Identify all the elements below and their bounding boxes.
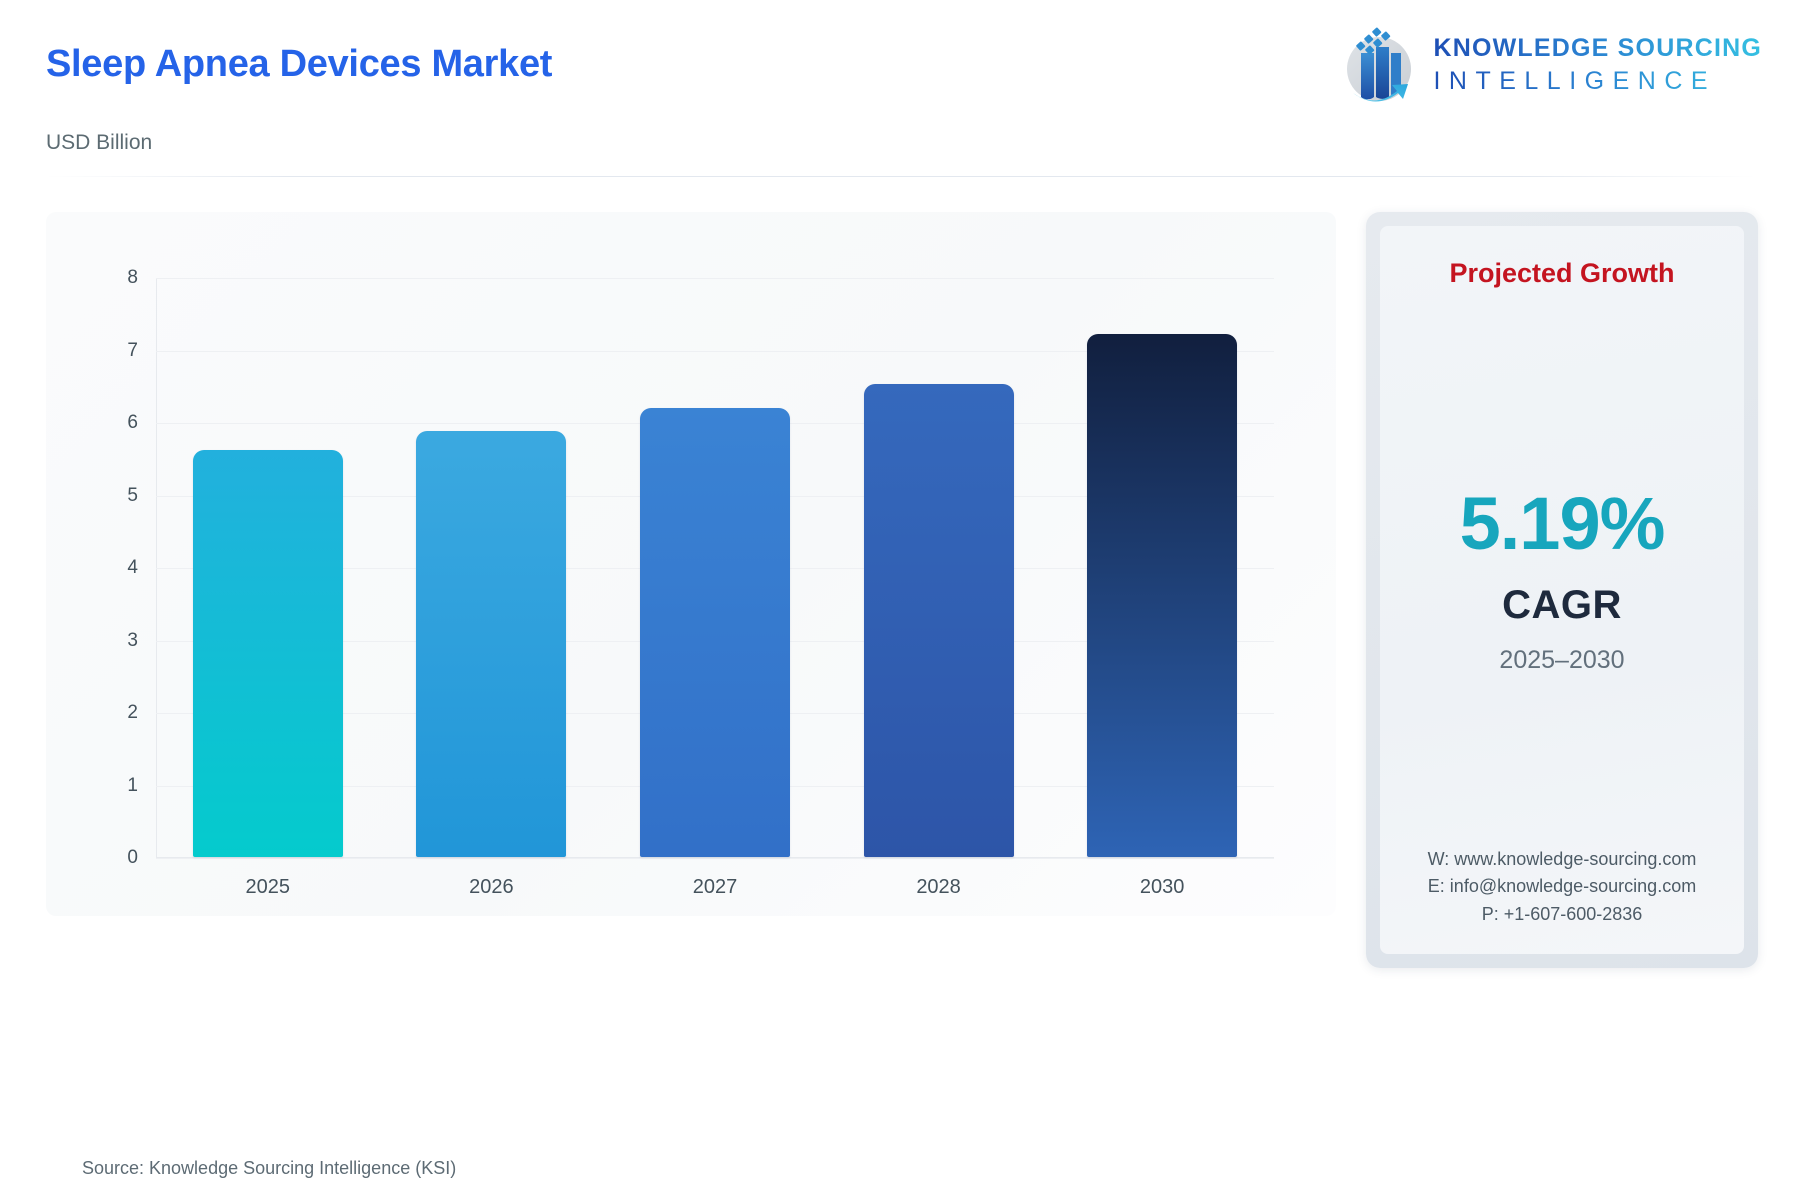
y-tick-label: 7 — [127, 340, 138, 362]
brand-logo: KNOWLEDGE SOURCING INTELLIGENCE — [1335, 22, 1762, 108]
x-tick-label: 2025 — [160, 876, 375, 899]
header-divider — [46, 176, 1756, 177]
bar-slot — [160, 278, 375, 857]
bar-2028[interactable] — [864, 384, 1014, 857]
bar-2026[interactable] — [416, 431, 566, 857]
gridline — [156, 858, 1274, 859]
logo-wordmark: KNOWLEDGE SOURCING INTELLIGENCE — [1433, 34, 1762, 96]
y-tick-label: 3 — [127, 630, 138, 652]
x-axis-labels: 20252026202720282030 — [156, 876, 1274, 899]
bar-slot — [1055, 278, 1270, 857]
bar-2025[interactable] — [193, 450, 343, 857]
x-tick-label: 2026 — [384, 876, 599, 899]
x-tick-label: 2030 — [1055, 876, 1270, 899]
bar-slot — [608, 278, 823, 857]
cagr-label: CAGR — [1502, 583, 1622, 628]
x-tick-label: 2027 — [608, 876, 823, 899]
source-note: Source: Knowledge Sourcing Intelligence … — [82, 1158, 456, 1179]
bar-2030[interactable] — [1087, 334, 1237, 857]
contact-block: W: www.knowledge-sourcing.com E: info@kn… — [1428, 846, 1697, 928]
page-title: Sleep Apnea Devices Market — [46, 43, 552, 86]
plot-area: 012345678 — [156, 278, 1274, 858]
y-tick-label: 8 — [127, 267, 138, 289]
cagr-value: 5.19% — [1460, 487, 1665, 561]
bar-series — [156, 278, 1274, 857]
y-tick-label: 0 — [127, 847, 138, 869]
logo-mark-icon — [1335, 23, 1419, 107]
contact-website[interactable]: W: www.knowledge-sourcing.com — [1428, 846, 1697, 873]
y-tick-label: 2 — [127, 702, 138, 724]
y-tick-label: 5 — [127, 485, 138, 507]
cagr-range: 2025–2030 — [1499, 646, 1624, 675]
bar-slot — [384, 278, 599, 857]
page-header: Sleep Apnea Devices Market USD Billion — [0, 0, 1800, 182]
logo-line-1: KNOWLEDGE SOURCING — [1433, 34, 1762, 63]
contact-email[interactable]: E: info@knowledge-sourcing.com — [1428, 873, 1697, 900]
projected-growth-panel: Projected Growth 5.19% CAGR 2025–2030 W:… — [1366, 212, 1758, 968]
y-tick-label: 4 — [127, 557, 138, 579]
y-tick-label: 6 — [127, 412, 138, 434]
chart-page: Sleep Apnea Devices Market USD Billion — [0, 0, 1800, 1012]
projected-growth-inner: Projected Growth 5.19% CAGR 2025–2030 W:… — [1380, 226, 1744, 954]
logo-line-2: INTELLIGENCE — [1433, 67, 1762, 96]
contact-phone: P: +1-607-600-2836 — [1428, 901, 1697, 928]
panel-title: Projected Growth — [1449, 258, 1674, 289]
page-subtitle: USD Billion — [46, 131, 152, 155]
bar-slot — [831, 278, 1046, 857]
x-tick-label: 2028 — [831, 876, 1046, 899]
chart-card: 012345678 20252026202720282030 Source: K… — [46, 212, 1336, 916]
bar-2027[interactable] — [640, 408, 790, 857]
y-tick-label: 1 — [127, 775, 138, 797]
